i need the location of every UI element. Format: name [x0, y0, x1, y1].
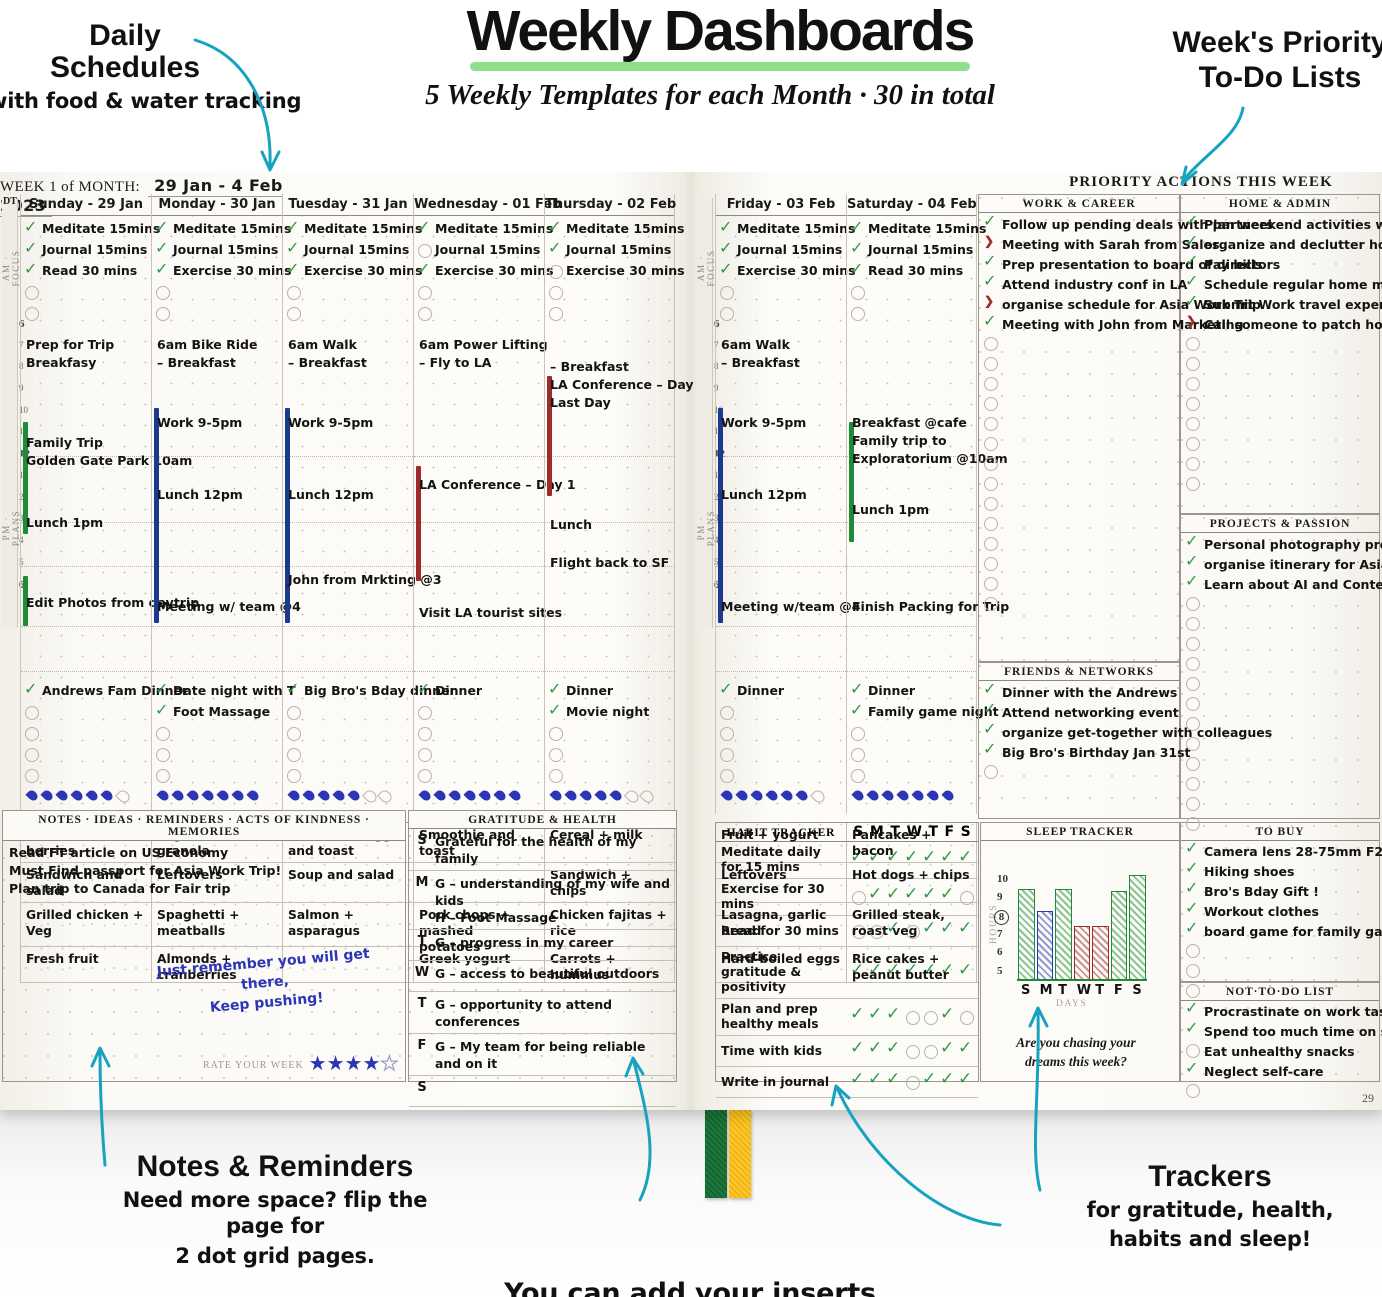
list-item[interactable]: Attend industry conf in LA: [983, 276, 1175, 296]
gratitude-text[interactable]: G – opportunity to attend conferences: [435, 992, 676, 1033]
list-item[interactable]: Prep presentation to board of directors: [983, 256, 1175, 276]
checkbox-empty[interactable]: [1185, 636, 1199, 650]
schedule-entry[interactable]: 6am Power Lifting– Fly to LA: [419, 336, 545, 372]
list-item-blank[interactable]: [1185, 636, 1375, 656]
pm-plan-item[interactable]: [155, 743, 283, 764]
habit-check[interactable]: [922, 889, 938, 905]
water-drop-icon[interactable]: [508, 788, 523, 805]
checkbox-done[interactable]: [983, 216, 997, 230]
list-item-blank[interactable]: [983, 556, 1175, 576]
pm-plans-list[interactable]: Date night with TFoot Massage: [155, 680, 283, 785]
list-item[interactable]: organize get-together with colleagues: [983, 724, 1175, 744]
water-drop-icon[interactable]: [246, 788, 261, 805]
list-item-blank[interactable]: [1185, 456, 1375, 476]
checkbox-done[interactable]: [1185, 536, 1199, 550]
am-focus-list[interactable]: Meditate 15minsJournal 15minsRead 30 min…: [850, 218, 978, 323]
pm-plan-item[interactable]: Dinner: [719, 680, 847, 701]
water-drop-icon[interactable]: [851, 788, 866, 805]
checkbox-empty[interactable]: [24, 306, 38, 320]
list-item[interactable]: Follow up pending deals with partners: [983, 216, 1175, 236]
water-drop-icon[interactable]: [287, 788, 302, 805]
am-focus-item[interactable]: Meditate 15mins: [850, 218, 978, 239]
checkbox-empty[interactable]: [719, 285, 733, 299]
event-block[interactable]: [285, 408, 290, 623]
am-focus-item[interactable]: Read 30 mins: [24, 260, 152, 281]
sleep-tracker[interactable]: SLEEP TRACKER HOURS 5678910 SMTWTFS DAYS…: [980, 822, 1180, 1082]
am-focus-item[interactable]: Journal 15mins: [719, 239, 847, 260]
list-item-blank[interactable]: [983, 496, 1175, 516]
note-line[interactable]: Must Find passport for Asia Work Trip!: [9, 862, 399, 880]
water-drop-icon[interactable]: [25, 788, 40, 805]
water-drop-icon[interactable]: [70, 788, 85, 805]
checkbox-empty[interactable]: [983, 576, 997, 590]
list-item-blank[interactable]: [983, 476, 1175, 496]
water-drop-icon[interactable]: [941, 788, 956, 805]
pm-plan-item[interactable]: [286, 764, 414, 785]
pm-plan-item[interactable]: [286, 701, 414, 722]
checkbox-empty[interactable]: [155, 285, 169, 299]
checkbox-empty[interactable]: [286, 285, 300, 299]
water-drop-icon[interactable]: [795, 788, 810, 805]
schedule-entry[interactable]: Lunch 12pm: [721, 486, 847, 504]
water-drop-icon[interactable]: [186, 788, 201, 805]
checkbox-done[interactable]: [155, 684, 169, 698]
habit-check[interactable]: [940, 852, 956, 868]
habit-check[interactable]: [922, 1074, 938, 1090]
water-drop-icon[interactable]: [115, 788, 130, 805]
list-item[interactable]: Call someone to patch hole in Roof: [1185, 316, 1375, 336]
water-drop-icon[interactable]: [564, 788, 579, 805]
checkbox-done[interactable]: [1185, 576, 1199, 590]
water-drop-icon[interactable]: [85, 788, 100, 805]
habit-row[interactable]: Time with kids: [716, 1036, 978, 1067]
checkbox-empty[interactable]: [286, 747, 300, 761]
checkbox-empty[interactable]: [417, 747, 431, 761]
water-drop-icon[interactable]: [639, 788, 654, 805]
pm-plan-item[interactable]: [548, 764, 676, 785]
pm-plan-item[interactable]: [286, 722, 414, 743]
gratitude-text[interactable]: G – understanding of my wife and kidsH –…: [435, 871, 676, 929]
habit-check[interactable]: [940, 1074, 956, 1090]
habit-check[interactable]: [886, 1043, 902, 1059]
checkbox-done[interactable]: [548, 705, 562, 719]
checkbox-empty[interactable]: [983, 476, 997, 490]
am-focus-item[interactable]: Journal 15mins: [286, 239, 414, 260]
pm-plans-list[interactable]: Dinner: [417, 680, 545, 785]
checkbox-empty[interactable]: [983, 436, 997, 450]
list-item[interactable]: Learn about AI and Content Creation: [1185, 576, 1375, 596]
am-focus-list[interactable]: Meditate 15minsJournal 15minsExercise 30…: [286, 218, 414, 323]
list-item-blank[interactable]: [1185, 943, 1375, 963]
am-focus-list[interactable]: Meditate 15minsJournal 15minsExercise 30…: [155, 218, 283, 323]
day-header[interactable]: Saturday - 04 Feb: [847, 194, 976, 216]
water-drop-icon[interactable]: [881, 788, 896, 805]
checkbox-empty[interactable]: [417, 768, 431, 782]
checkbox-done[interactable]: [1185, 1023, 1199, 1037]
pm-plan-item[interactable]: [417, 701, 545, 722]
pm-plans-list[interactable]: DinnerMovie night: [548, 680, 676, 785]
habit-check[interactable]: [922, 923, 938, 939]
gratitude-row[interactable]: M G – understanding of my wife and kidsH…: [409, 871, 676, 930]
habit-check[interactable]: [850, 889, 866, 905]
checkbox-done[interactable]: [1185, 883, 1199, 897]
list-item-blank[interactable]: [983, 416, 1175, 436]
checkbox-empty[interactable]: [850, 285, 864, 299]
checkbox-done[interactable]: [850, 243, 864, 257]
pm-plan-item[interactable]: Big Bro's Bday dinner: [286, 680, 414, 701]
notes-lines[interactable]: Read FT article on US EconomyMust Find p…: [3, 841, 405, 901]
water-drop-icon[interactable]: [216, 788, 231, 805]
gratitude-text[interactable]: G – My team for being reliable and on it: [435, 1034, 676, 1075]
water-drop-icon[interactable]: [201, 788, 216, 805]
checkbox-empty[interactable]: [548, 306, 562, 320]
pm-plan-item[interactable]: [548, 722, 676, 743]
checkbox-empty[interactable]: [983, 396, 997, 410]
day-header[interactable]: Monday - 30 Jan: [152, 194, 282, 216]
checkbox-empty[interactable]: [1185, 963, 1199, 977]
checkbox-done[interactable]: [1185, 276, 1199, 290]
pm-plans-list[interactable]: DinnerFamily game night: [850, 680, 978, 785]
checkbox-done[interactable]: [1185, 1063, 1199, 1077]
checkbox-empty[interactable]: [983, 536, 997, 550]
gratitude-row[interactable]: S Grateful for the health of my family: [409, 829, 676, 871]
checkbox-done[interactable]: [1185, 556, 1199, 570]
habit-check[interactable]: [922, 852, 938, 868]
schedule-entry[interactable]: 6am Walk– Breakfast: [288, 336, 414, 372]
gratitude-row[interactable]: T G – opportunity to attend conferences: [409, 992, 676, 1034]
checkbox-done[interactable]: [24, 222, 38, 236]
water-tracker[interactable]: [720, 786, 825, 806]
checkbox-done[interactable]: [286, 243, 300, 257]
schedule-entry[interactable]: Breakfast @cafeFamily trip toExploratori…: [852, 414, 978, 468]
list-item-blank[interactable]: [1185, 656, 1375, 676]
water-tracker[interactable]: [156, 786, 261, 806]
star-icon[interactable]: ★: [309, 1053, 327, 1075]
checkbox-empty[interactable]: [286, 768, 300, 782]
water-drop-icon[interactable]: [720, 788, 735, 805]
pm-plan-item[interactable]: [24, 701, 152, 722]
am-focus-list[interactable]: Meditate 15minsJournal 15minsRead 30 min…: [24, 218, 152, 323]
checkbox-done[interactable]: [286, 222, 300, 236]
priority-list-work-career[interactable]: WORK & CAREER Follow up pending deals wi…: [978, 194, 1180, 662]
am-focus-item[interactable]: Meditate 15mins: [719, 218, 847, 239]
checkbox-empty[interactable]: [983, 456, 997, 470]
checkbox-done[interactable]: [286, 264, 300, 278]
checkbox-done[interactable]: [24, 264, 38, 278]
list-item-blank[interactable]: [1185, 396, 1375, 416]
checkbox-done[interactable]: [1185, 216, 1199, 230]
list-item[interactable]: Submit Work travel expenses: [1185, 296, 1375, 316]
list-item-blank[interactable]: [1185, 796, 1375, 816]
checkbox-empty[interactable]: [1185, 436, 1199, 450]
list-item[interactable]: board game for family game night: [1185, 923, 1375, 943]
sleep-bar[interactable]: [1129, 875, 1146, 982]
checkbox-empty[interactable]: [24, 726, 38, 740]
pm-plan-item[interactable]: Foot Massage: [155, 701, 283, 722]
habit-check[interactable]: [868, 1009, 884, 1025]
checkbox-empty[interactable]: [1185, 696, 1199, 710]
water-drop-icon[interactable]: [448, 788, 463, 805]
list-item-blank[interactable]: [1185, 963, 1375, 983]
pm-plan-item[interactable]: Dinner: [417, 680, 545, 701]
gratitude-text[interactable]: [435, 1076, 676, 1106]
pm-plan-item[interactable]: [719, 722, 847, 743]
habit-check[interactable]: [904, 1009, 920, 1025]
list-item-blank[interactable]: [1185, 756, 1375, 776]
water-drop-icon[interactable]: [317, 788, 332, 805]
pm-plan-item[interactable]: [155, 722, 283, 743]
list-item[interactable]: Pay bills: [1185, 256, 1375, 276]
day-header[interactable]: Friday - 03 Feb: [716, 194, 846, 216]
pm-plans-list[interactable]: Big Bro's Bday dinner: [286, 680, 414, 785]
checkbox-empty[interactable]: [286, 306, 300, 320]
am-focus-item[interactable]: [24, 302, 152, 323]
pm-plan-item[interactable]: [417, 764, 545, 785]
am-focus-item[interactable]: Journal 15mins: [548, 239, 676, 260]
priority-list-home-admin[interactable]: HOME & ADMIN Plan weekend activities wit…: [1180, 194, 1380, 514]
checkbox-empty[interactable]: [548, 768, 562, 782]
am-focus-item[interactable]: Meditate 15mins: [417, 218, 545, 239]
checkbox-done[interactable]: [1185, 843, 1199, 857]
schedule-entry[interactable]: Work 9-5pm: [721, 414, 847, 432]
schedule-entry[interactable]: – BreakfastLA Conference – Day 2Last Day: [550, 358, 676, 412]
checkbox-empty[interactable]: [548, 285, 562, 299]
checkbox-empty[interactable]: [983, 416, 997, 430]
pm-plan-item[interactable]: [850, 722, 978, 743]
am-focus-item[interactable]: [155, 302, 283, 323]
checkbox-done[interactable]: [548, 222, 562, 236]
list-item[interactable]: Personal photography project: [1185, 536, 1375, 556]
list-item[interactable]: Spend too much time on social media: [1185, 1023, 1375, 1043]
pm-plans-list[interactable]: Dinner: [719, 680, 847, 785]
checkbox-empty[interactable]: [850, 306, 864, 320]
to-buy-list[interactable]: TO BUY Camera lens 28-75mm F2.8Hiking sh…: [1180, 822, 1380, 982]
water-drop-icon[interactable]: [866, 788, 881, 805]
water-tracker[interactable]: [25, 786, 130, 806]
checkbox-done[interactable]: [1185, 863, 1199, 877]
list-item-blank[interactable]: [983, 764, 1175, 784]
habit-check[interactable]: [958, 965, 974, 981]
gratitude-row[interactable]: W G – access to beautiful outdoors: [409, 961, 676, 992]
am-focus-item[interactable]: [286, 302, 414, 323]
sleep-bar[interactable]: [1037, 911, 1054, 981]
checkbox-empty[interactable]: [1185, 476, 1199, 490]
checkbox-done[interactable]: [155, 705, 169, 719]
habit-check[interactable]: [886, 889, 902, 905]
star-rating[interactable]: ★★★★★: [309, 1056, 399, 1075]
day-header[interactable]: Thursday - 02 Feb: [545, 194, 674, 216]
water-drop-icon[interactable]: [463, 788, 478, 805]
am-focus-item[interactable]: [548, 281, 676, 302]
gratitude-row[interactable]: F G – My team for being reliable and on …: [409, 1034, 676, 1076]
list-item[interactable]: Workout clothes: [1185, 903, 1375, 923]
am-focus-item[interactable]: Journal 15mins: [850, 239, 978, 260]
checkbox-empty[interactable]: [983, 496, 997, 510]
checkbox-empty[interactable]: [155, 306, 169, 320]
am-focus-item[interactable]: Meditate 15mins: [24, 218, 152, 239]
habit-check[interactable]: [886, 1009, 902, 1025]
notes-panel[interactable]: NOTES · IDEAS · REMINDERS · ACTS OF KIND…: [2, 810, 406, 1082]
day-header[interactable]: Wednesday - 01 Feb: [414, 194, 544, 216]
pm-plan-item[interactable]: Dinner: [548, 680, 676, 701]
habit-check[interactable]: [868, 1074, 884, 1090]
checkbox-empty[interactable]: [417, 705, 431, 719]
pm-plan-item[interactable]: [850, 743, 978, 764]
list-item-blank[interactable]: [1185, 1083, 1375, 1103]
habit-check[interactable]: [904, 889, 920, 905]
water-drop-icon[interactable]: [549, 788, 564, 805]
pm-plan-item[interactable]: [24, 722, 152, 743]
checkbox-empty[interactable]: [1185, 416, 1199, 430]
pm-plan-item[interactable]: [286, 743, 414, 764]
pm-plan-item[interactable]: Movie night: [548, 701, 676, 722]
checkbox-empty[interactable]: [1185, 356, 1199, 370]
checkbox-empty[interactable]: [548, 747, 562, 761]
gratitude-row[interactable]: S: [409, 1076, 676, 1107]
habit-check[interactable]: [940, 923, 956, 939]
habit-check[interactable]: [958, 1009, 974, 1025]
am-focus-item[interactable]: Exercise 30 mins: [548, 260, 676, 281]
am-focus-item[interactable]: Journal 15mins: [417, 239, 545, 260]
am-focus-item[interactable]: Exercise 30 mins: [719, 260, 847, 281]
gratitude-text[interactable]: G – progress in my career: [435, 930, 676, 960]
water-drop-icon[interactable]: [624, 788, 639, 805]
not-to-do-list[interactable]: NOT·TO·DO LIST Procrastinate on work tas…: [1180, 982, 1380, 1082]
gratitude-text[interactable]: Grateful for the health of my family: [435, 829, 676, 870]
habit-check[interactable]: [940, 889, 956, 905]
checkbox-done[interactable]: [983, 724, 997, 738]
am-focus-item[interactable]: [719, 281, 847, 302]
water-drop-icon[interactable]: [765, 788, 780, 805]
list-item[interactable]: Meeting with Sarah from Sales: [983, 236, 1175, 256]
water-drop-icon[interactable]: [100, 788, 115, 805]
habit-row[interactable]: Write in journal: [716, 1067, 978, 1098]
checkbox-done[interactable]: [417, 222, 431, 236]
checkbox-empty[interactable]: [719, 306, 733, 320]
habit-check[interactable]: [850, 1043, 866, 1059]
pm-plan-item[interactable]: Andrews Fam Dinner: [24, 680, 152, 701]
gratitude-rows[interactable]: S Grateful for the health of my family M…: [409, 829, 676, 1107]
schedule-entry[interactable]: Work 9-5pm: [157, 414, 283, 432]
checkbox-done[interactable]: [850, 264, 864, 278]
list-item[interactable]: Camera lens 28-75mm F2.8: [1185, 843, 1375, 863]
habit-check[interactable]: [958, 1074, 974, 1090]
water-drop-icon[interactable]: [896, 788, 911, 805]
schedule-entry[interactable]: Meeting w/team @4: [721, 598, 847, 616]
schedule-entry[interactable]: Finish Packing for Trip: [852, 598, 978, 616]
checkbox-empty[interactable]: [1185, 943, 1199, 957]
pm-plans-list[interactable]: Andrews Fam Dinner: [24, 680, 152, 785]
list-item-blank[interactable]: [983, 396, 1175, 416]
checkbox-done[interactable]: [719, 684, 733, 698]
checkbox-empty[interactable]: [1185, 596, 1199, 610]
list-item-blank[interactable]: [1185, 416, 1375, 436]
star-icon[interactable]: ★: [380, 1053, 398, 1075]
checkbox-done[interactable]: [1185, 236, 1199, 250]
pm-plan-item[interactable]: [24, 743, 152, 764]
list-body[interactable]: Plan weekend activities with familyorgan…: [1181, 213, 1379, 499]
schedule-entry[interactable]: Lunch: [550, 516, 676, 534]
list-item-blank[interactable]: [1185, 596, 1375, 616]
am-focus-item[interactable]: [850, 281, 978, 302]
list-item-blank[interactable]: [983, 596, 1175, 616]
am-focus-item[interactable]: [850, 302, 978, 323]
checkbox-done[interactable]: [24, 243, 38, 257]
schedule-entry[interactable]: Family TripGolden Gate Park 10am: [26, 434, 152, 470]
list-item[interactable]: Eat unhealthy snacks: [1185, 1043, 1375, 1063]
pm-plan-item[interactable]: [719, 764, 847, 785]
water-tracker[interactable]: [851, 786, 956, 806]
habit-check[interactable]: [940, 1043, 956, 1059]
water-drop-icon[interactable]: [332, 788, 347, 805]
star-icon[interactable]: ★: [345, 1053, 363, 1075]
list-item-blank[interactable]: [1185, 436, 1375, 456]
habit-check[interactable]: [904, 1074, 920, 1090]
pm-plan-item[interactable]: [24, 764, 152, 785]
checkbox-done[interactable]: [719, 243, 733, 257]
checkbox-arrow[interactable]: [983, 236, 997, 250]
list-item[interactable]: Neglect self-care: [1185, 1063, 1375, 1083]
water-drop-icon[interactable]: [171, 788, 186, 805]
water-drop-icon[interactable]: [156, 788, 171, 805]
am-focus-item[interactable]: [286, 281, 414, 302]
event-block[interactable]: [718, 408, 723, 623]
checkbox-empty[interactable]: [719, 747, 733, 761]
habit-marks[interactable]: [846, 1074, 978, 1090]
habit-check[interactable]: [868, 1043, 884, 1059]
note-line[interactable]: Read FT article on US Economy: [9, 844, 399, 862]
note-line[interactable]: Plan trip to Canada for Fair trip: [9, 880, 399, 898]
water-drop-icon[interactable]: [780, 788, 795, 805]
list-item-blank[interactable]: [983, 376, 1175, 396]
list-item[interactable]: organise itinerary for Asia Trip: [1185, 556, 1375, 576]
list-item-blank[interactable]: [1185, 356, 1375, 376]
water-drop-icon[interactable]: [926, 788, 941, 805]
pm-plan-item[interactable]: [850, 764, 978, 785]
checkbox-empty[interactable]: [983, 356, 997, 370]
checkbox-done[interactable]: [1185, 903, 1199, 917]
water-drop-icon[interactable]: [433, 788, 448, 805]
checkbox-arrow[interactable]: [1185, 316, 1199, 330]
schedule-entry[interactable]: Flight back to SF: [550, 554, 676, 572]
schedule-entry[interactable]: Lunch 1pm: [26, 514, 152, 532]
list-item[interactable]: Bro's Bday Gift !: [1185, 883, 1375, 903]
habit-check[interactable]: [850, 1074, 866, 1090]
checkbox-empty[interactable]: [1185, 336, 1199, 350]
list-item[interactable]: Schedule regular home maintenance: [1185, 276, 1375, 296]
list-item-blank[interactable]: [983, 576, 1175, 596]
checkbox-empty[interactable]: [155, 747, 169, 761]
checkbox-empty[interactable]: [155, 768, 169, 782]
am-focus-item[interactable]: [719, 302, 847, 323]
schedule-entry[interactable]: Meeting w/ team @4: [157, 598, 283, 616]
checkbox-done[interactable]: [548, 243, 562, 257]
checkbox-empty[interactable]: [850, 747, 864, 761]
am-focus-item[interactable]: Meditate 15mins: [155, 218, 283, 239]
water-drop-icon[interactable]: [579, 788, 594, 805]
checkbox-done[interactable]: [24, 684, 38, 698]
checkbox-done[interactable]: [850, 222, 864, 236]
checkbox-done[interactable]: [850, 705, 864, 719]
checkbox-done[interactable]: [1185, 296, 1199, 310]
list-item-blank[interactable]: [983, 516, 1175, 536]
checkbox-empty[interactable]: [1185, 796, 1199, 810]
water-drop-icon[interactable]: [911, 788, 926, 805]
checkbox-empty[interactable]: [983, 516, 997, 530]
am-focus-item[interactable]: Journal 15mins: [155, 239, 283, 260]
water-drop-icon[interactable]: [55, 788, 70, 805]
am-focus-list[interactable]: Meditate 15minsJournal 15minsExercise 30…: [719, 218, 847, 323]
